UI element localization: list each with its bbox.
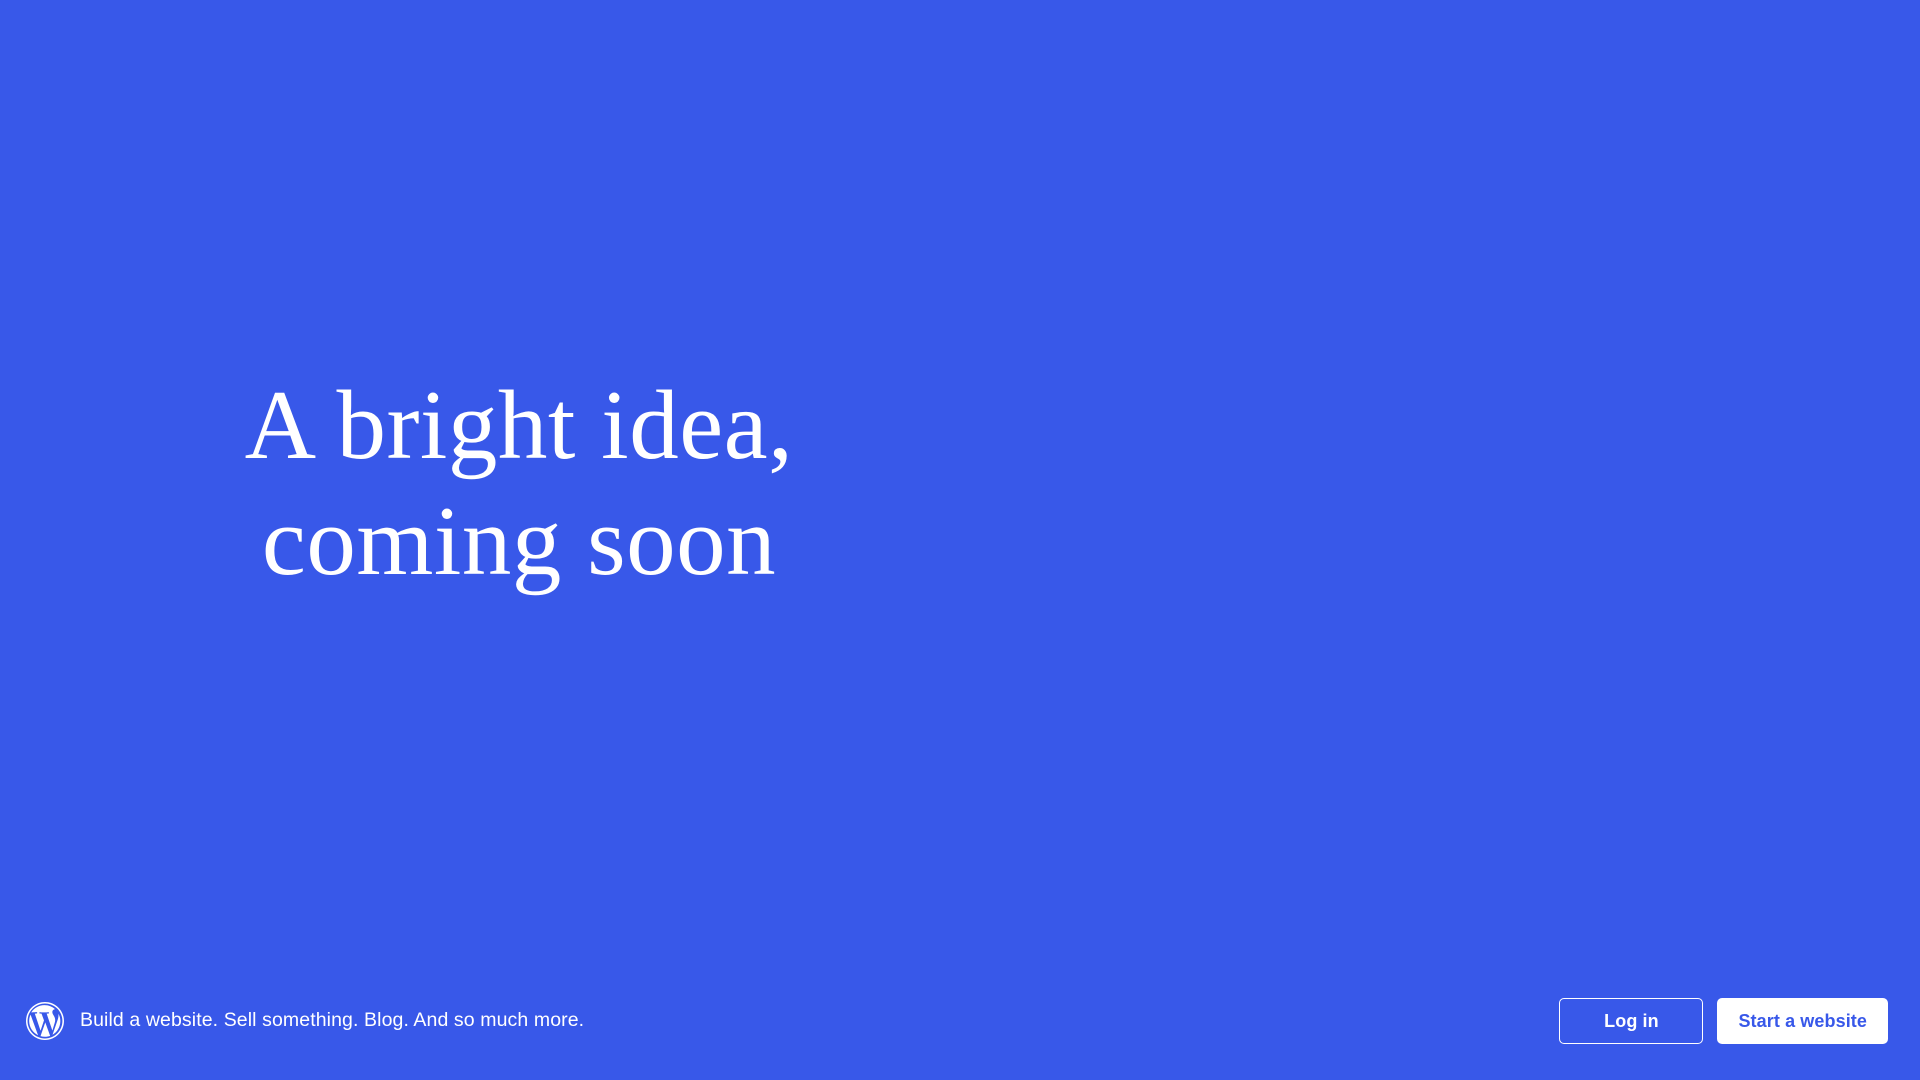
hero-section: A bright idea, coming soon xyxy=(0,0,1920,962)
footer-tagline: Build a website. Sell something. Blog. A… xyxy=(80,1008,584,1033)
footer-actions: Log in Start a website xyxy=(1559,998,1888,1044)
footer-branding: Build a website. Sell something. Blog. A… xyxy=(26,1002,584,1040)
coming-soon-page: A bright idea, coming soon Build a websi… xyxy=(0,0,1920,1080)
start-a-website-button[interactable]: Start a website xyxy=(1717,998,1888,1044)
wordpress-logo-icon[interactable] xyxy=(26,1002,64,1040)
log-in-button[interactable]: Log in xyxy=(1559,998,1703,1044)
page-title: A bright idea, coming soon xyxy=(104,368,934,600)
footer-bar: Build a website. Sell something. Blog. A… xyxy=(0,962,1920,1080)
